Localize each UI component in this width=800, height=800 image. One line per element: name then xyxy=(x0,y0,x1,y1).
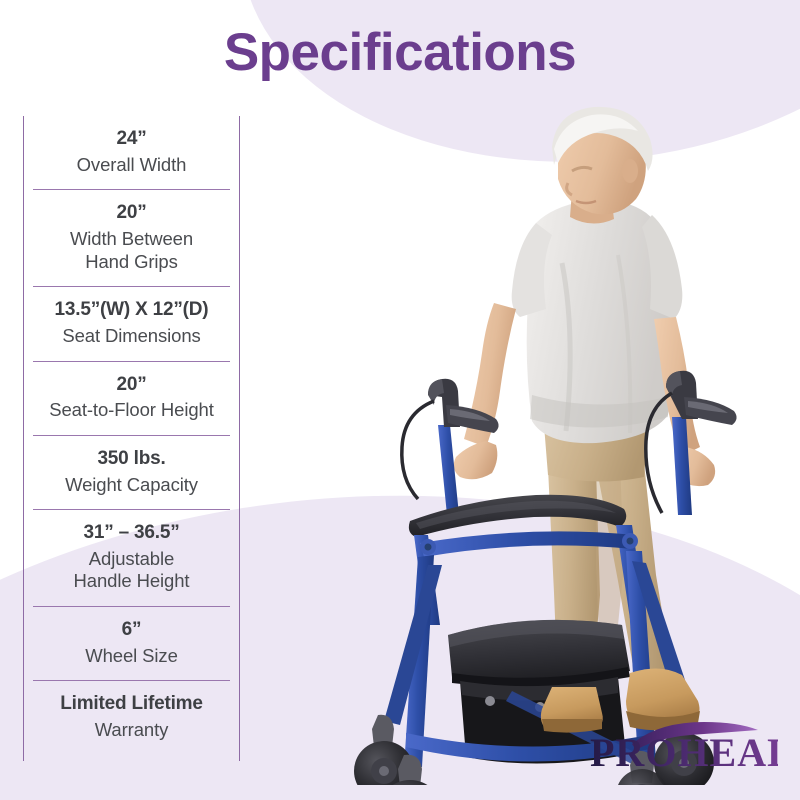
spec-value: 20” xyxy=(39,201,224,225)
page-title: Specifications xyxy=(0,22,800,83)
spec-label: Seat-to-Floor Height xyxy=(39,399,224,422)
spec-label: Overall Width xyxy=(39,154,224,177)
product-photo xyxy=(300,95,800,785)
spec-label: AdjustableHandle Height xyxy=(39,548,224,593)
spec-label: Width BetweenHand Grips xyxy=(39,228,224,273)
spec-label: Warranty xyxy=(39,719,224,742)
spec-row: 20” Width BetweenHand Grips xyxy=(33,190,230,287)
spec-value: 6” xyxy=(39,618,224,642)
spec-value: Limited Lifetime xyxy=(39,692,224,716)
spec-row: 350 lbs. Weight Capacity xyxy=(33,436,230,510)
spec-table: 24” Overall Width 20” Width BetweenHand … xyxy=(23,116,240,755)
spec-row: Limited Lifetime Warranty xyxy=(33,681,230,754)
spec-row: 24” Overall Width xyxy=(33,116,230,190)
specifications-infographic: Specifications 24” Overall Width 20” Wid… xyxy=(0,0,800,800)
spec-value: 20” xyxy=(39,373,224,397)
logo-wordmark: PROHEAL xyxy=(590,730,778,775)
spec-row: 31” – 36.5” AdjustableHandle Height xyxy=(33,510,230,607)
spec-value: 31” – 36.5” xyxy=(39,521,224,545)
spec-label: Seat Dimensions xyxy=(39,325,224,348)
spec-value: 24” xyxy=(39,127,224,151)
spec-value: 13.5”(W) X 12”(D) xyxy=(39,298,224,322)
spec-row: 20” Seat-to-Floor Height xyxy=(33,362,230,436)
walker-seat xyxy=(448,620,630,687)
proheal-logo: PROHEAL xyxy=(588,716,778,778)
spec-row: 6” Wheel Size xyxy=(33,607,230,681)
spec-label: Weight Capacity xyxy=(39,474,224,497)
spec-row: 13.5”(W) X 12”(D) Seat Dimensions xyxy=(33,287,230,361)
spec-label: Wheel Size xyxy=(39,645,224,668)
spec-value: 350 lbs. xyxy=(39,447,224,471)
